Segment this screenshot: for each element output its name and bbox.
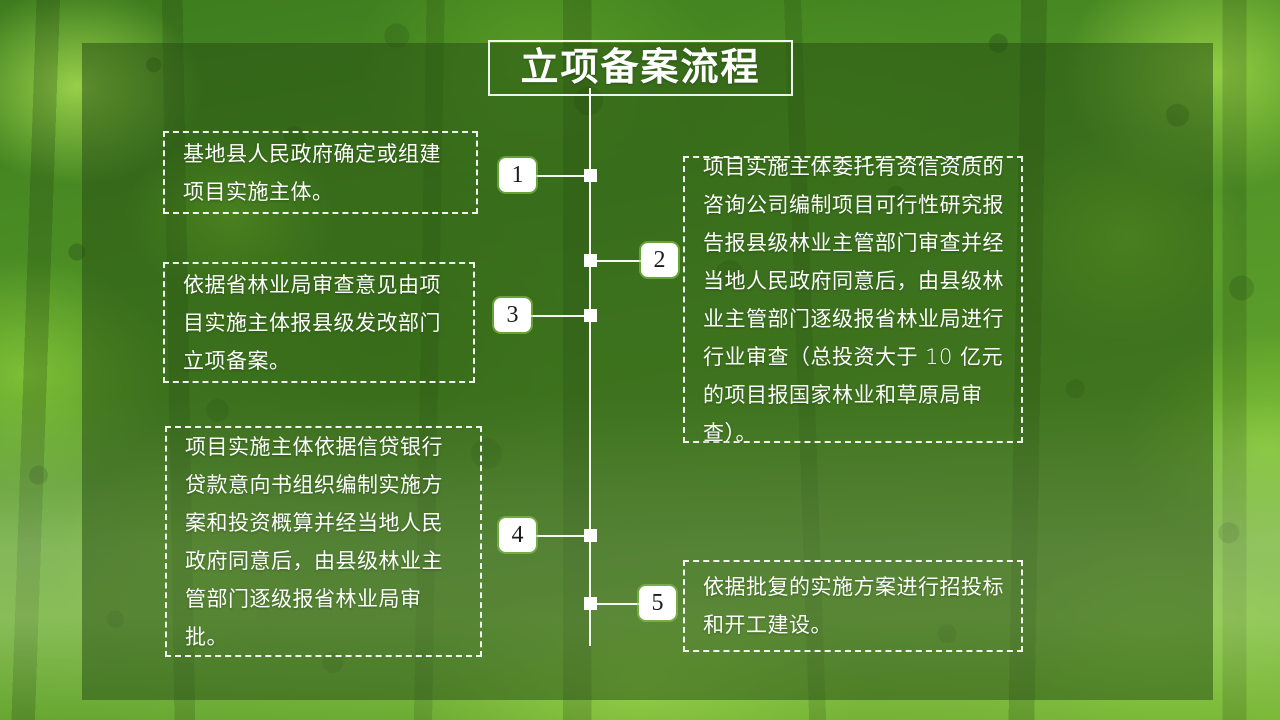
step-textbox-4[interactable]: 项目实施主体依据信贷银行贷款意向书组织编制实施方案和投资概算并经当地人民政府同意… [165,426,482,657]
step-textbox-2[interactable]: 项目实施主体委托有资信资质的咨询公司编制项目可行性研究报告报县级林业主管部门审查… [683,156,1023,443]
step-text-3: 依据省林业局审查意见由项目实施主体报县级发改部门立项备案。 [183,266,457,380]
timeline-connector-1 [536,175,586,177]
step-textbox-1[interactable]: 基地县人民政府确定或组建项目实施主体。 [163,131,478,214]
step-text-5: 依据批复的实施方案进行招投标和开工建设。 [703,568,1005,644]
step-text-4: 项目实施主体依据信贷银行贷款意向书组织编制实施方案和投资概算并经当地人民政府同意… [185,428,464,656]
step-badge-2[interactable]: 2 [641,243,678,277]
timeline-connector-2 [596,260,644,262]
step-badge-5[interactable]: 5 [639,586,676,620]
step-textbox-5[interactable]: 依据批复的实施方案进行招投标和开工建设。 [683,560,1023,652]
step-badge-1[interactable]: 1 [499,158,536,192]
page-title: 立项备案流程 [520,49,760,87]
timeline-connector-5 [596,603,641,605]
step-badge-3[interactable]: 3 [494,298,531,332]
step-badge-4[interactable]: 4 [499,518,536,552]
step-textbox-3[interactable]: 依据省林业局审查意见由项目实施主体报县级发改部门立项备案。 [163,262,475,383]
timeline-connector-3 [531,315,586,317]
step-text-2: 项目实施主体委托有资信资质的咨询公司编制项目可行性研究报告报县级林业主管部门审查… [703,148,1005,452]
slide-title-box: 立项备案流程 [488,40,793,96]
step-text-1: 基地县人民政府确定或组建项目实施主体。 [183,135,460,211]
timeline-connector-4 [536,535,586,537]
slide-canvas: 立项备案流程 1 2 3 4 5 基地县人民政府确定或组建项目实施主体。 项目实… [0,0,1280,720]
